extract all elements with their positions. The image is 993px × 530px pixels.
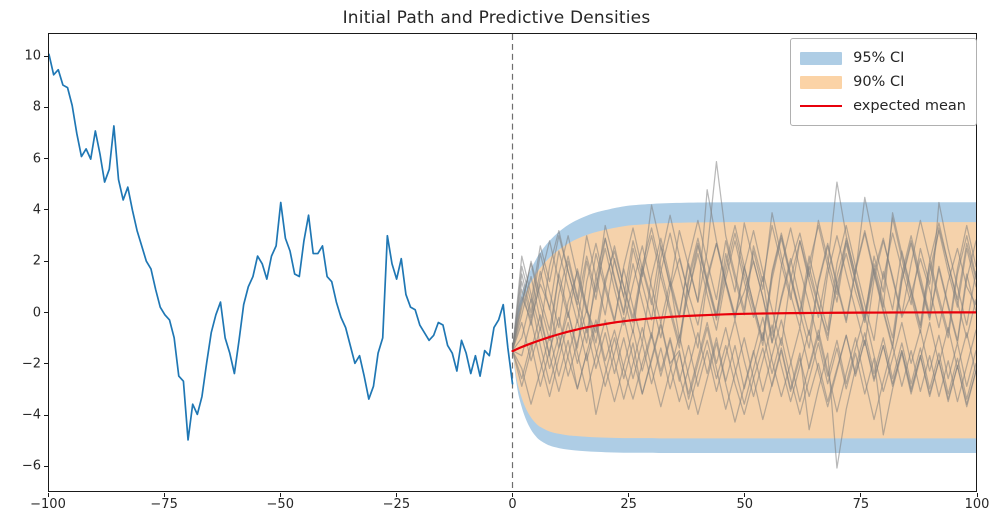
y-axis-tick-labels: 1086420−2−4−6 (0, 33, 41, 492)
y-tick-label: −6 (1, 459, 41, 474)
x-tick-label: 100 (947, 497, 993, 512)
x-tick-label: −75 (134, 497, 194, 512)
x-tick-mark (860, 493, 861, 497)
y-tick-label: −4 (1, 408, 41, 423)
x-tick-mark (744, 493, 745, 497)
x-tick-mark (512, 493, 513, 497)
y-tick-label: −2 (1, 356, 41, 371)
legend-label-90ci: 90% CI (853, 74, 904, 90)
chart-title: Initial Path and Predictive Densities (0, 8, 993, 28)
x-tick-label: −25 (366, 497, 426, 512)
legend-label-expected-mean: expected mean (853, 98, 966, 114)
series-initial-path (49, 54, 513, 440)
y-tick-label: 4 (1, 202, 41, 217)
x-tick-mark (164, 493, 165, 497)
legend: 95% CI 90% CI expected mean (790, 38, 977, 126)
x-tick-mark (396, 493, 397, 497)
figure: Initial Path and Predictive Densities 10… (0, 0, 993, 530)
x-axis-tick-labels: −100−75−50−250255075100 (48, 497, 977, 517)
legend-label-95ci: 95% CI (853, 50, 904, 66)
x-tick-label: 50 (715, 497, 775, 512)
x-tick-label: −100 (18, 497, 78, 512)
legend-swatch-95ci (800, 52, 842, 65)
legend-item-90ci: 90% CI (800, 70, 966, 94)
x-tick-label: 75 (831, 497, 891, 512)
legend-item-95ci: 95% CI (800, 46, 966, 70)
x-tick-mark (977, 493, 978, 497)
x-tick-mark (48, 493, 49, 497)
x-tick-label: 25 (599, 497, 659, 512)
legend-line-expected-mean (800, 105, 842, 107)
y-tick-label: 8 (1, 100, 41, 115)
x-tick-label: 0 (483, 497, 543, 512)
x-tick-mark (280, 493, 281, 497)
y-tick-label: 10 (1, 49, 41, 64)
y-tick-label: 2 (1, 254, 41, 269)
x-tick-label: −50 (250, 497, 310, 512)
legend-swatch-90ci (800, 76, 842, 89)
x-tick-mark (628, 493, 629, 497)
y-tick-label: 6 (1, 151, 41, 166)
y-tick-label: 0 (1, 305, 41, 320)
legend-item-expected-mean: expected mean (800, 94, 966, 118)
